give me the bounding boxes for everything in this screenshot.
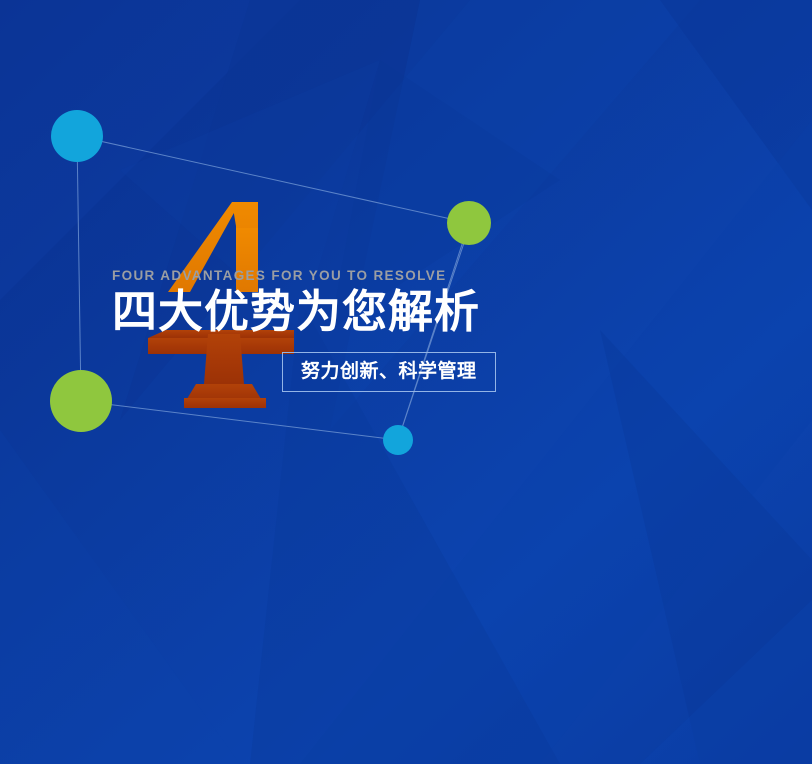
node-cyan-bottom (383, 425, 413, 455)
node-cyan-top-left (51, 110, 103, 162)
banner-text-block: FOUR ADVANTAGES FOR YOU TO RESOLVE 四大优势为… (112, 268, 672, 368)
promo-banner: FOUR ADVANTAGES FOR YOU TO RESOLVE 四大优势为… (0, 0, 812, 764)
banner-headline: 四大优势为您解析 (112, 286, 672, 338)
banner-subtitle-box: 努力创新、科学管理 (282, 352, 496, 392)
node-green-right (447, 201, 491, 245)
node-green-bottom-left (50, 370, 112, 432)
banner-subtitle-row: 努力创新、科学管理 (282, 352, 496, 392)
banner-subtitle-text: 努力创新、科学管理 (301, 360, 477, 382)
line-cyan-top-left-to-green-bottom-left (77, 136, 81, 401)
banner-eyebrow-text: FOUR ADVANTAGES FOR YOU TO RESOLVE (112, 268, 672, 284)
